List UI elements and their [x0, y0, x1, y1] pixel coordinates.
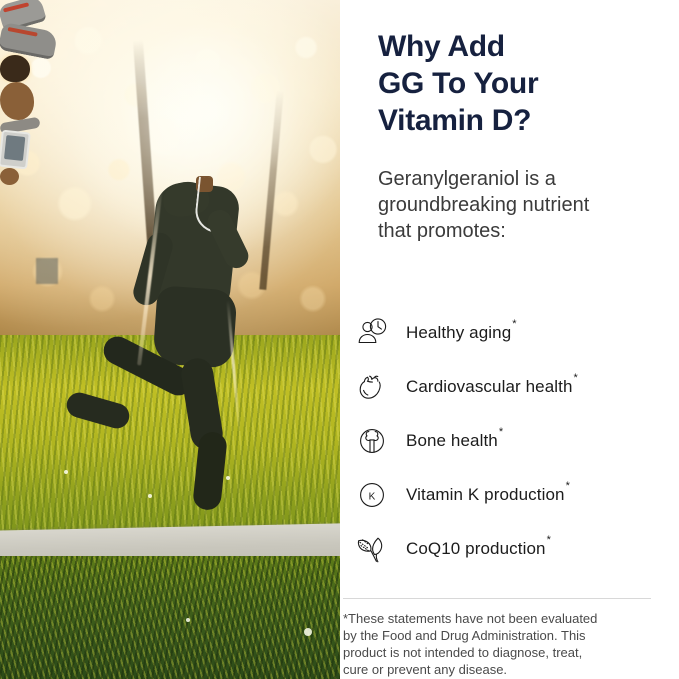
disclaimer-line-3: product is not intended to diagnose, tre…: [343, 644, 651, 661]
headline-line-2: GG To Your: [378, 65, 648, 102]
page-title: Why Add GG To Your Vitamin D?: [378, 28, 648, 139]
list-item-label: Vitamin K production*: [406, 485, 569, 505]
runner-head: [0, 82, 34, 120]
list-item: CoQ10 production*: [350, 522, 660, 576]
subheadline-line-3: that promotes:: [378, 218, 653, 244]
heart-icon: [350, 365, 394, 409]
subheadline: Geranylgeraniol is a groundbreaking nutr…: [378, 166, 653, 244]
headline-line-1: Why Add: [378, 28, 648, 65]
person-clock-icon: [350, 311, 394, 355]
phone-armband: [0, 130, 31, 170]
runner-back-shin: [64, 390, 132, 432]
runner-hair-bun: [0, 55, 30, 82]
subheadline-line-2: groundbreaking nutrient: [378, 192, 653, 218]
list-item: Cardiovascular health*: [350, 360, 660, 414]
runner-fist: [0, 168, 19, 185]
content-panel: Why Add GG To Your Vitamin D? Geranylger…: [340, 0, 679, 679]
disclaimer-line-2: by the Food and Drug Administration. Thi…: [343, 627, 651, 644]
list-item-label: Healthy aging*: [406, 323, 516, 343]
runner-photo: [0, 0, 340, 679]
product-infographic: Why Add GG To Your Vitamin D? Geranylger…: [0, 0, 679, 679]
vitamin-k-glyph: K: [369, 491, 376, 502]
fda-disclaimer: *These statements have not been evaluate…: [343, 598, 651, 678]
list-item-label: Bone health*: [406, 431, 502, 451]
bone-joint-icon: [350, 419, 394, 463]
list-item-label: CoQ10 production*: [406, 539, 550, 559]
disclaimer-line-4: cure or prevent any disease.: [343, 661, 651, 678]
list-item: Bone health*: [350, 414, 660, 468]
list-item: K Vitamin K production*: [350, 468, 660, 522]
vitamin-k-circle-icon: K: [350, 473, 394, 517]
leaves-icon: [350, 527, 394, 571]
runner-hips: [152, 285, 237, 368]
runner-figure: [0, 0, 340, 679]
subheadline-line-1: Geranylgeraniol is a: [378, 166, 653, 192]
disclaimer-line-1: *These statements have not been evaluate…: [343, 610, 651, 627]
list-item: Healthy aging*: [350, 306, 660, 360]
runner-front-shoe: [0, 22, 58, 60]
benefits-list: Healthy aging* Cardiovascular health*: [350, 306, 660, 576]
list-item-label: Cardiovascular health*: [406, 377, 577, 397]
headline-line-3: Vitamin D?: [378, 102, 648, 139]
